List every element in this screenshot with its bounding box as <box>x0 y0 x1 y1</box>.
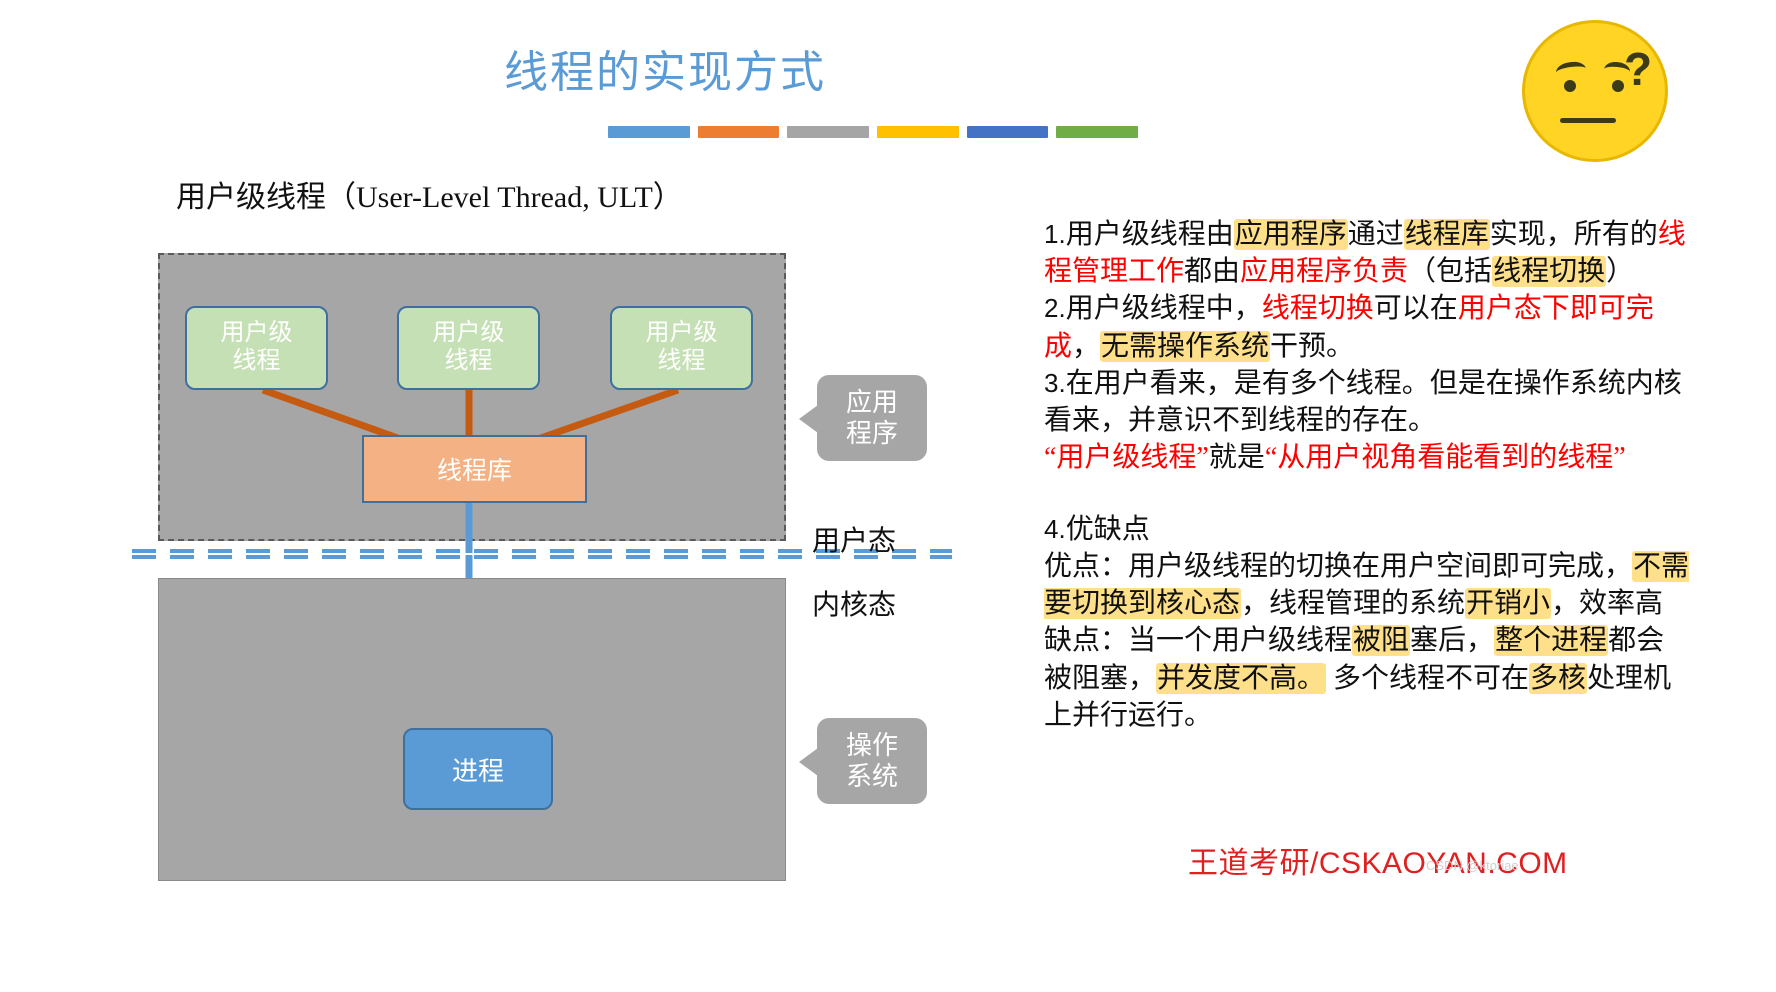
thread-box-line1: 用户级 <box>433 320 505 348</box>
rule-bar-2 <box>698 126 780 138</box>
note-item-4-cons: 缺点：当一个用户级线程被阻塞后，整个进程都会被阻塞，并发度不高。 多个线程不可在… <box>1044 622 1690 734</box>
diagram-heading: 用户级线程（User-Level Thread, ULT） <box>176 172 683 216</box>
callout-os-line1: 操作 <box>846 730 898 761</box>
user-level-thread-box: 用户级 线程 <box>610 306 753 390</box>
note-4-cons-hl3: 并发度不高。 <box>1156 663 1326 694</box>
rule-bar-4 <box>877 126 959 138</box>
note-4-cons-label: 缺点： <box>1044 625 1128 656</box>
note-1-seg1: 用户级线程由 <box>1066 219 1234 250</box>
note-3-number: 3. <box>1044 368 1066 398</box>
user-level-thread-box: 用户级 线程 <box>185 306 328 390</box>
note-4-pros-label: 优点： <box>1044 551 1128 582</box>
note-4-cons-seg2: 塞后， <box>1410 625 1494 656</box>
emoji-eye-right <box>1612 80 1624 92</box>
note-4-cons-seg1: 当一个用户级线程 <box>1128 625 1352 656</box>
callout-app-line1: 应用 <box>846 387 898 418</box>
page-title: 线程的实现方式 <box>0 36 1330 100</box>
user-level-thread-box: 用户级 线程 <box>397 306 540 390</box>
emoji-eye-left <box>1564 80 1576 92</box>
title-underline-bars <box>608 126 1138 138</box>
note-2-red1: 线程切换 <box>1262 293 1374 324</box>
callout-operating-system: 操作 系统 <box>817 718 927 804</box>
note-4-cons-hl2: 整个进程 <box>1494 625 1608 656</box>
note-4-pros-seg1: 用户级线程的切换在用户空间即可完成， <box>1128 551 1632 582</box>
note-1-hl2: 线程库 <box>1404 219 1490 250</box>
note-item-4-title: 4.优缺点 <box>1044 511 1690 548</box>
note-4-title: 优缺点 <box>1066 514 1150 545</box>
note-1-seg5: （包括 <box>1408 256 1492 287</box>
note-1-seg6: ） <box>1606 256 1634 287</box>
note-1-seg2: 通过 <box>1348 219 1404 250</box>
thread-box-line1: 用户级 <box>221 320 293 348</box>
rule-bar-1 <box>608 126 690 138</box>
note-1-seg4: 都由 <box>1184 256 1240 287</box>
note-2-hl1: 无需操作系统 <box>1100 331 1270 362</box>
note-4-cons-hl4: 多核 <box>1529 663 1587 694</box>
question-mark-icon: ? <box>1624 42 1652 96</box>
rule-bar-5 <box>967 126 1049 138</box>
notes-panel: 1.用户级线程由应用程序通过线程库实现，所有的线程管理工作都由应用程序负责（包括… <box>1044 216 1690 734</box>
note-4-cons-seg4: 多个线程不可在 <box>1326 663 1529 694</box>
note-4-pros-hl2: 开销小 <box>1465 588 1551 619</box>
slide-canvas: 线程的实现方式 ? 用户级线程（User-Level Thread, ULT） … <box>0 0 1776 992</box>
confused-face-emoji: ? <box>1512 18 1672 158</box>
note-3-red2: “从用户视角看能看到的线程” <box>1265 442 1626 473</box>
note-2-number: 2. <box>1044 293 1066 323</box>
note-2-seg1: 用户级线程中， <box>1066 293 1262 324</box>
note-1-red2: 应用程序负责 <box>1240 256 1408 287</box>
thread-box-line2: 线程 <box>658 348 706 376</box>
note-1-number: 1. <box>1044 219 1066 249</box>
thread-box-line2: 线程 <box>233 348 281 376</box>
callout-os-line2: 系统 <box>846 761 898 792</box>
watermark-faint: CSDN @ktoriae <box>1426 858 1519 873</box>
note-3-seg1: 在用户看来，是有多个线程。但是在操作系统内核看来，并意识不到线程的存在。 <box>1044 368 1682 436</box>
process-box: 进程 <box>403 728 553 810</box>
callout-application: 应用 程序 <box>817 375 927 461</box>
label-user-mode: 用户态 <box>812 519 896 559</box>
note-3-seg2: 就是 <box>1209 442 1265 473</box>
note-2-seg3: ， <box>1072 331 1100 362</box>
note-4-number: 4. <box>1044 514 1066 544</box>
note-item-4-pros: 优点：用户级线程的切换在用户空间即可完成，不需要切换到核心态，线程管理的系统开销… <box>1044 548 1690 622</box>
note-item-2: 2.用户级线程中，线程切换可以在用户态下即可完成，无需操作系统干预。 <box>1044 290 1690 364</box>
note-4-pros-seg2: ，线程管理的系统 <box>1241 588 1465 619</box>
thread-box-line2: 线程 <box>445 348 493 376</box>
thread-library-box: 线程库 <box>362 435 587 503</box>
note-2-seg4: 干预。 <box>1270 331 1354 362</box>
note-1-seg3: 实现，所有的 <box>1490 219 1658 250</box>
callout-tail-icon <box>799 405 818 433</box>
rule-bar-6 <box>1056 126 1138 138</box>
callout-app-line2: 程序 <box>846 418 898 449</box>
thread-box-line1: 用户级 <box>646 320 718 348</box>
note-item-1: 1.用户级线程由应用程序通过线程库实现，所有的线程管理工作都由应用程序负责（包括… <box>1044 216 1690 290</box>
callout-tail-icon <box>799 748 818 776</box>
note-1-hl1: 应用程序 <box>1234 219 1348 250</box>
note-3-red1: “用户级线程” <box>1044 442 1209 473</box>
notes-spacer <box>1044 477 1690 511</box>
note-item-3: 3.在用户看来，是有多个线程。但是在操作系统内核看来，并意识不到线程的存在。 <box>1044 365 1690 439</box>
label-kernel-mode: 内核态 <box>812 583 896 623</box>
note-4-cons-hl1: 被阻 <box>1352 625 1410 656</box>
note-2-seg2: 可以在 <box>1374 293 1458 324</box>
rule-bar-3 <box>787 126 869 138</box>
note-1-hl3: 线程切换 <box>1492 256 1606 287</box>
emoji-mouth <box>1560 118 1616 123</box>
note-4-pros-seg3: ，效率高 <box>1551 588 1663 619</box>
note-item-3-quote: “用户级线程”就是“从用户视角看能看到的线程” <box>1044 439 1690 476</box>
